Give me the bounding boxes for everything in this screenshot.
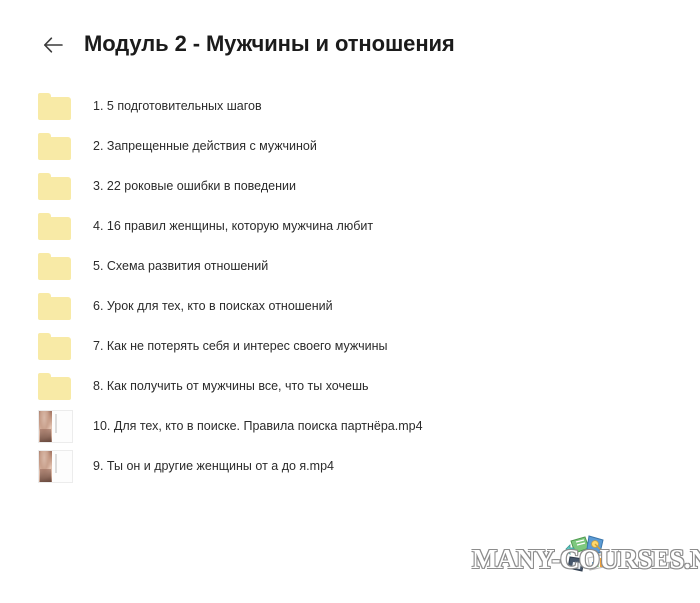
list-item[interactable]: 3. 22 роковые ошибки в поведении bbox=[0, 166, 700, 206]
list-item[interactable]: 1. 5 подготовительных шагов bbox=[0, 86, 700, 126]
video-thumbnail-icon bbox=[38, 448, 78, 484]
list-item[interactable]: 6. Урок для тех, кто в поисках отношений bbox=[0, 286, 700, 326]
list-item[interactable]: 10. Для тех, кто в поиске. Правила поиск… bbox=[0, 406, 700, 446]
folder-icon bbox=[38, 88, 78, 124]
watermark: MANY-COURSES.NET bbox=[472, 524, 692, 594]
list-item-label: 2. Запрещенные действия с мужчиной bbox=[93, 140, 317, 153]
page-title: Модуль 2 - Мужчины и отношения bbox=[84, 33, 455, 55]
folder-icon bbox=[38, 248, 78, 284]
folder-icon bbox=[38, 168, 78, 204]
page-header: Модуль 2 - Мужчины и отношения bbox=[0, 0, 700, 88]
list-item-label: 10. Для тех, кто в поиске. Правила поиск… bbox=[93, 420, 423, 433]
folder-icon bbox=[38, 128, 78, 164]
list-item[interactable]: 9. Ты он и другие женщины от а до я.mp4 bbox=[0, 446, 700, 486]
list-item-label: 6. Урок для тех, кто в поисках отношений bbox=[93, 300, 333, 313]
list-item[interactable]: 2. Запрещенные действия с мужчиной bbox=[0, 126, 700, 166]
list-item-label: 3. 22 роковые ошибки в поведении bbox=[93, 180, 296, 193]
folder-icon bbox=[38, 208, 78, 244]
list-item-label: 1. 5 подготовительных шагов bbox=[93, 100, 262, 113]
folder-icon bbox=[38, 368, 78, 404]
file-list: 1. 5 подготовительных шагов 2. Запрещенн… bbox=[0, 86, 700, 486]
folder-icon bbox=[38, 288, 78, 324]
list-item-label: 4. 16 правил женщины, которую мужчина лю… bbox=[93, 220, 373, 233]
list-item-label: 8. Как получить от мужчины все, что ты х… bbox=[93, 380, 369, 393]
list-item[interactable]: 7. Как не потерять себя и интерес своего… bbox=[0, 326, 700, 366]
list-item-label: 5. Схема развития отношений bbox=[93, 260, 268, 273]
video-thumbnail-icon bbox=[38, 408, 78, 444]
watermark-text: MANY-COURSES.NET bbox=[472, 546, 692, 573]
list-item[interactable]: 4. 16 правил женщины, которую мужчина лю… bbox=[0, 206, 700, 246]
list-item[interactable]: 8. Как получить от мужчины все, что ты х… bbox=[0, 366, 700, 406]
back-button[interactable] bbox=[38, 30, 68, 60]
folder-icon bbox=[38, 328, 78, 364]
list-item-label: 9. Ты он и другие женщины от а до я.mp4 bbox=[93, 460, 334, 473]
arrow-left-icon bbox=[43, 37, 63, 53]
list-item-label: 7. Как не потерять себя и интерес своего… bbox=[93, 340, 387, 353]
list-item[interactable]: 5. Схема развития отношений bbox=[0, 246, 700, 286]
